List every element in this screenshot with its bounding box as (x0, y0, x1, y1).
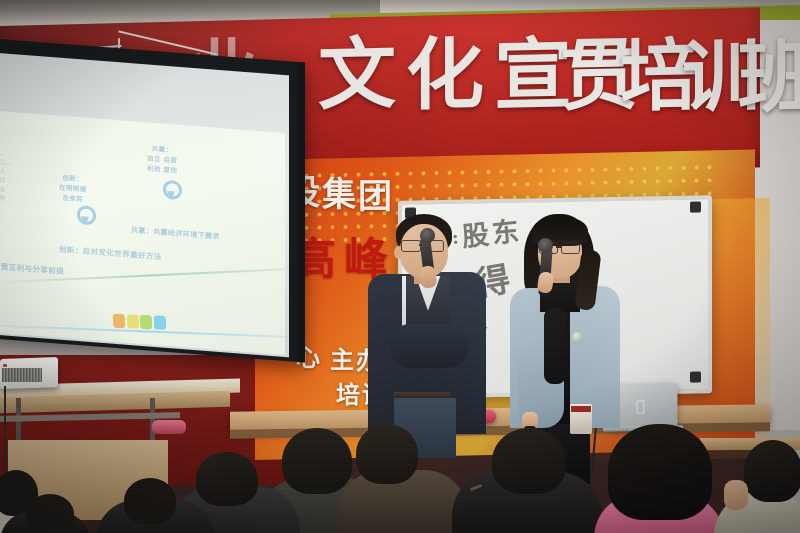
banner-lower-char-2: 团 (358, 180, 392, 214)
slide-label-innovate-head: 创新： 在明明德 在亲民 (59, 174, 87, 205)
male-presenter (372, 214, 492, 434)
banner-lower-char-1: 集 (322, 178, 356, 212)
slide-label-share-line: 共赢：共赢经济环境下需求 (131, 225, 220, 242)
female-glasses-bridge (556, 246, 562, 248)
pink-bag (152, 420, 186, 434)
slide-brand-logo (113, 314, 166, 330)
female-presenter (508, 212, 628, 437)
audience-hand (724, 480, 748, 510)
male-glasses-left-lens (401, 240, 421, 252)
slide-label-bottom-line: ：是互利与分享前提 (0, 261, 64, 278)
screen-surface: 在… 日三… 家人 工作 社会 世界 创新： 在明明德 在亲民 共赢： 自立 自… (0, 52, 289, 357)
logo-tile-2 (140, 315, 152, 330)
banner-host-char-1: 主 (330, 348, 354, 372)
slide-label-left-col: 在… 日三… 家人 工作 社会 世界 (0, 149, 12, 204)
projector-led-icon (3, 364, 7, 367)
lecture-hall-photo: 业 文 化 宣 贯 培 训 班 设 集 团 高峰 心 主 办 单 培训 一六年 … (0, 0, 800, 533)
projector-vent (2, 368, 42, 382)
female-name-badge-header (571, 406, 591, 412)
slide-label-innovate-line: 创新：应对变化世界最好方法 (59, 244, 162, 263)
female-inner-sleeve (544, 308, 566, 384)
logo-tile-3 (153, 315, 165, 330)
slide-label-share-head: 共赢： 自立 自度 利他 度他 (147, 144, 177, 176)
male-folded-arm (390, 324, 468, 368)
projection-screen: 在… 日三… 家人 工作 社会 世界 创新： 在明明德 在亲民 共赢： 自立 自… (0, 38, 298, 362)
male-microphone-head (420, 228, 435, 243)
banner-char-1: 文 (318, 36, 396, 116)
female-brooch (572, 332, 583, 343)
female-glasses-right-lens (561, 242, 580, 254)
apple-logo-icon:  (634, 399, 647, 414)
banner-char-2: 化 (406, 36, 484, 116)
logo-tile-0 (113, 314, 125, 329)
logo-tile-1 (126, 314, 138, 329)
banner-char-7: 班 (738, 39, 800, 119)
presentation-slide: 在… 日三… 家人 工作 社会 世界 创新： 在明明德 在亲民 共赢： 自立 自… (0, 111, 285, 355)
female-microphone-head (538, 238, 553, 253)
